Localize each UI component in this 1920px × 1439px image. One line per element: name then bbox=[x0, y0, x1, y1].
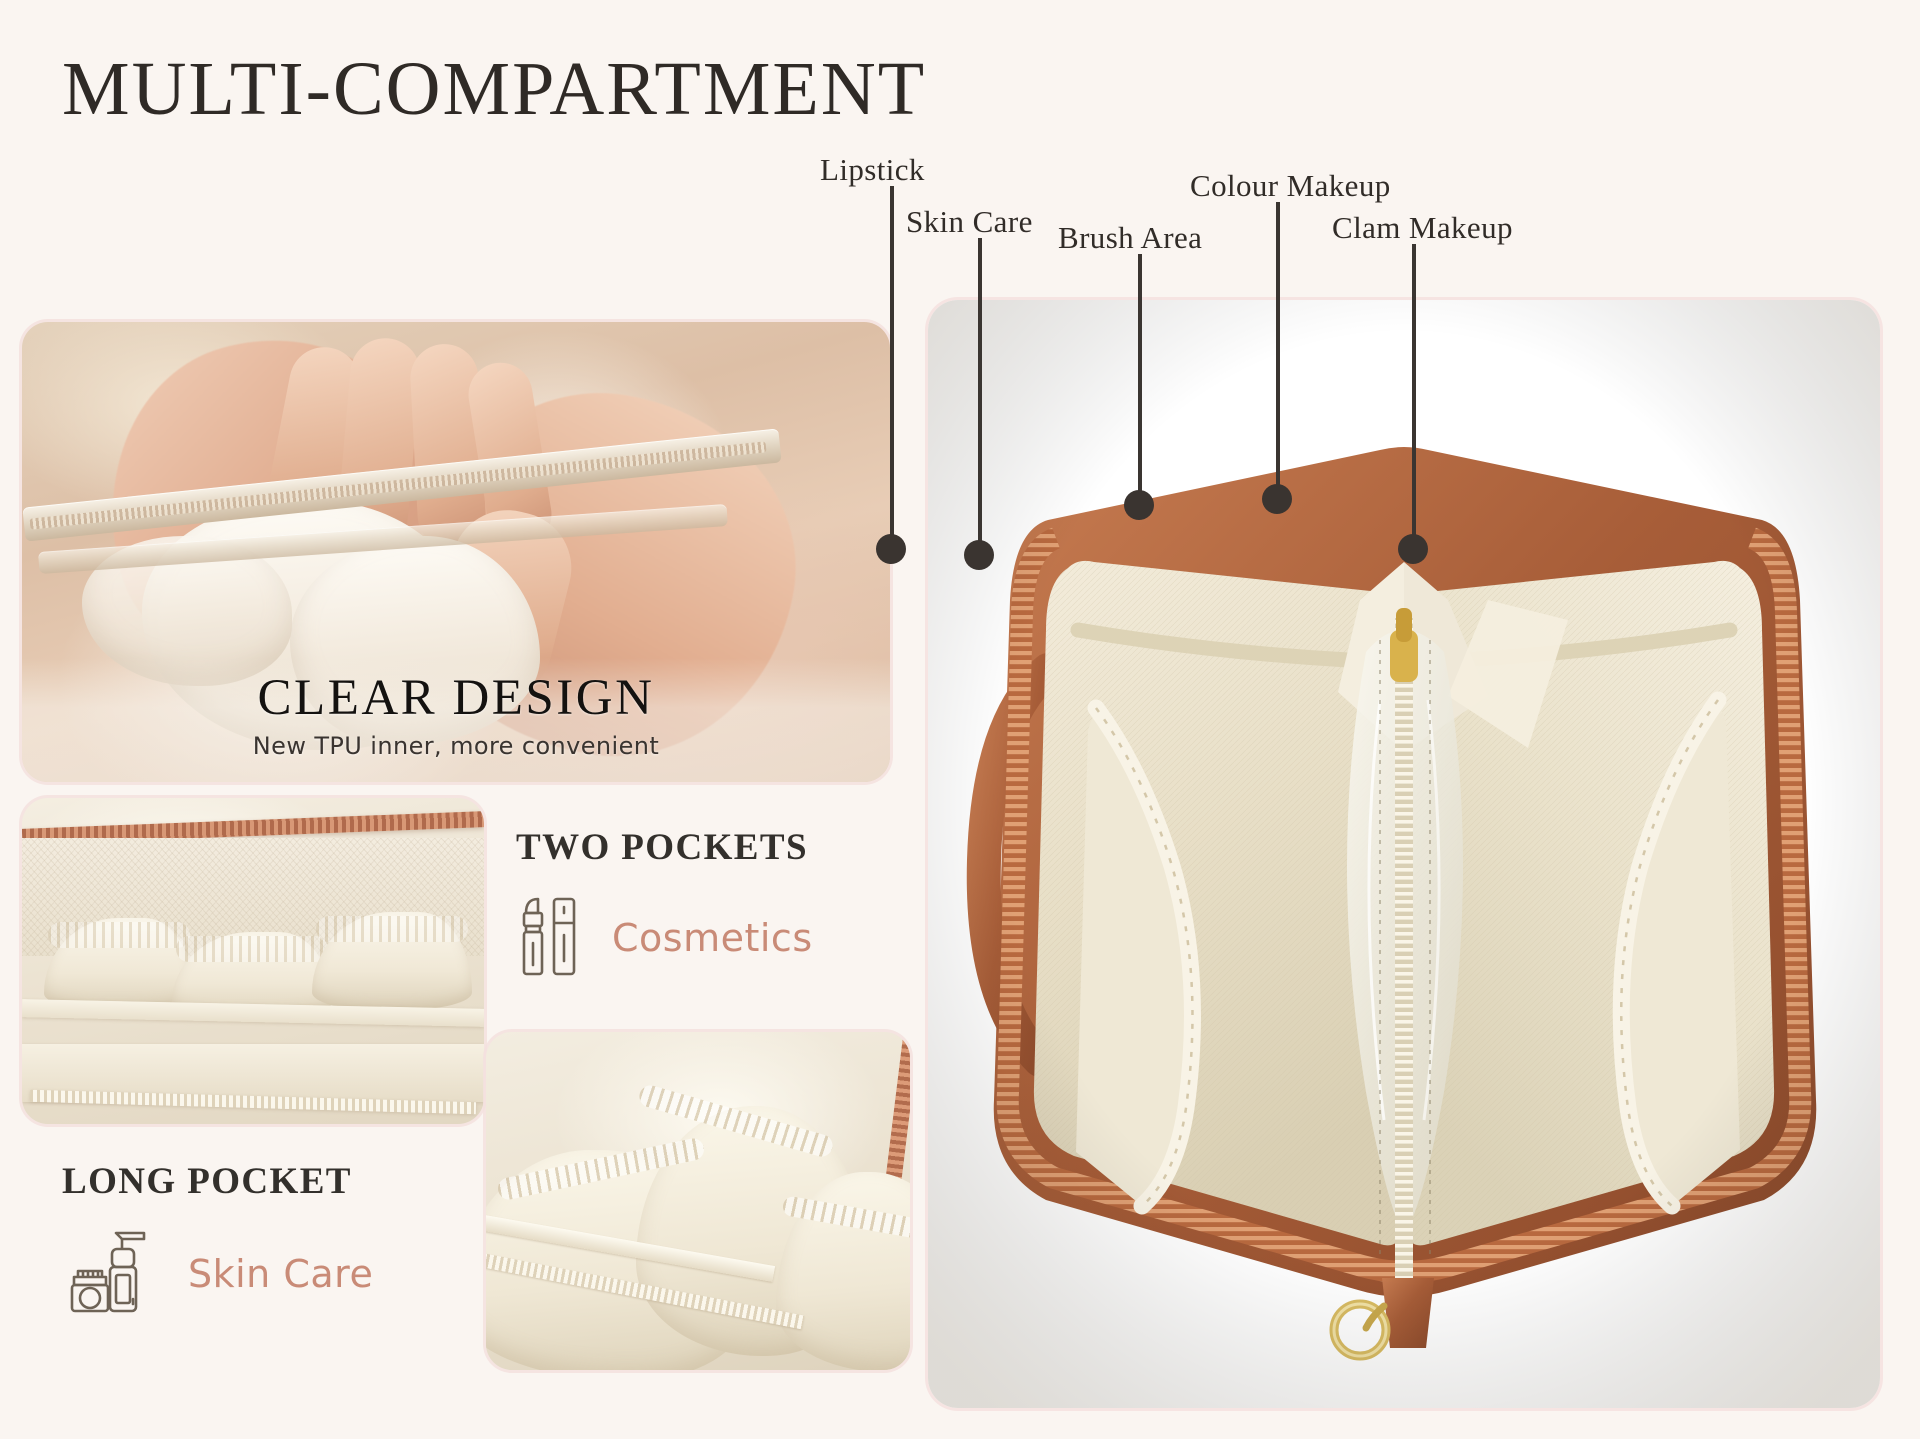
callout-line-colour-makeup bbox=[1276, 202, 1280, 490]
two-pockets-heading: TWO POCKETS bbox=[516, 826, 896, 869]
long-pocket-photo bbox=[22, 798, 484, 1124]
clear-design-photo: CLEAR DESIGN New TPU inner, more conveni… bbox=[22, 322, 890, 782]
callout-label-skin-care: Skin Care bbox=[906, 204, 1033, 240]
callout-dot-clam-makeup bbox=[1398, 534, 1428, 564]
page-title: MULTI-COMPARTMENT bbox=[62, 46, 926, 133]
long-pocket-feature: LONG POCKET Skin Care bbox=[62, 1160, 462, 1322]
callout-dot-colour-makeup bbox=[1262, 484, 1292, 514]
callout-line-clam-makeup bbox=[1412, 244, 1416, 540]
long-pocket-heading: LONG POCKET bbox=[62, 1160, 462, 1203]
open-bag-illustration bbox=[928, 300, 1880, 1408]
callout-dot-brush-area bbox=[1124, 490, 1154, 520]
lipstick-mascara-icon bbox=[516, 891, 590, 984]
callout-dot-skin-care bbox=[964, 540, 994, 570]
callout-label-clam-makeup: Clam Makeup bbox=[1332, 210, 1513, 246]
callout-label-colour-makeup: Colour Makeup bbox=[1190, 168, 1391, 204]
clear-design-title: CLEAR DESIGN bbox=[22, 672, 890, 726]
callout-line-lipstick bbox=[890, 186, 894, 542]
main-open-bag-photo bbox=[928, 300, 1880, 1408]
two-pockets-feature: TWO POCKETS Cosmetics bbox=[516, 826, 896, 984]
clear-design-overlay: CLEAR DESIGN New TPU inner, more conveni… bbox=[22, 658, 890, 782]
elastic-pocket bbox=[312, 912, 472, 1010]
callout-line-skin-care bbox=[978, 238, 982, 548]
clear-design-subtitle: New TPU inner, more convenient bbox=[22, 732, 890, 760]
callout-line-brush-area bbox=[1138, 254, 1142, 496]
two-pockets-photo bbox=[486, 1032, 910, 1370]
pump-bottle-jar-icon bbox=[62, 1225, 166, 1322]
long-pocket-label: Skin Care bbox=[188, 1252, 373, 1296]
callout-label-brush-area: Brush Area bbox=[1058, 220, 1202, 256]
two-pockets-label: Cosmetics bbox=[612, 916, 813, 960]
callout-dot-lipstick bbox=[876, 534, 906, 564]
callout-label-lipstick: Lipstick bbox=[820, 152, 925, 188]
